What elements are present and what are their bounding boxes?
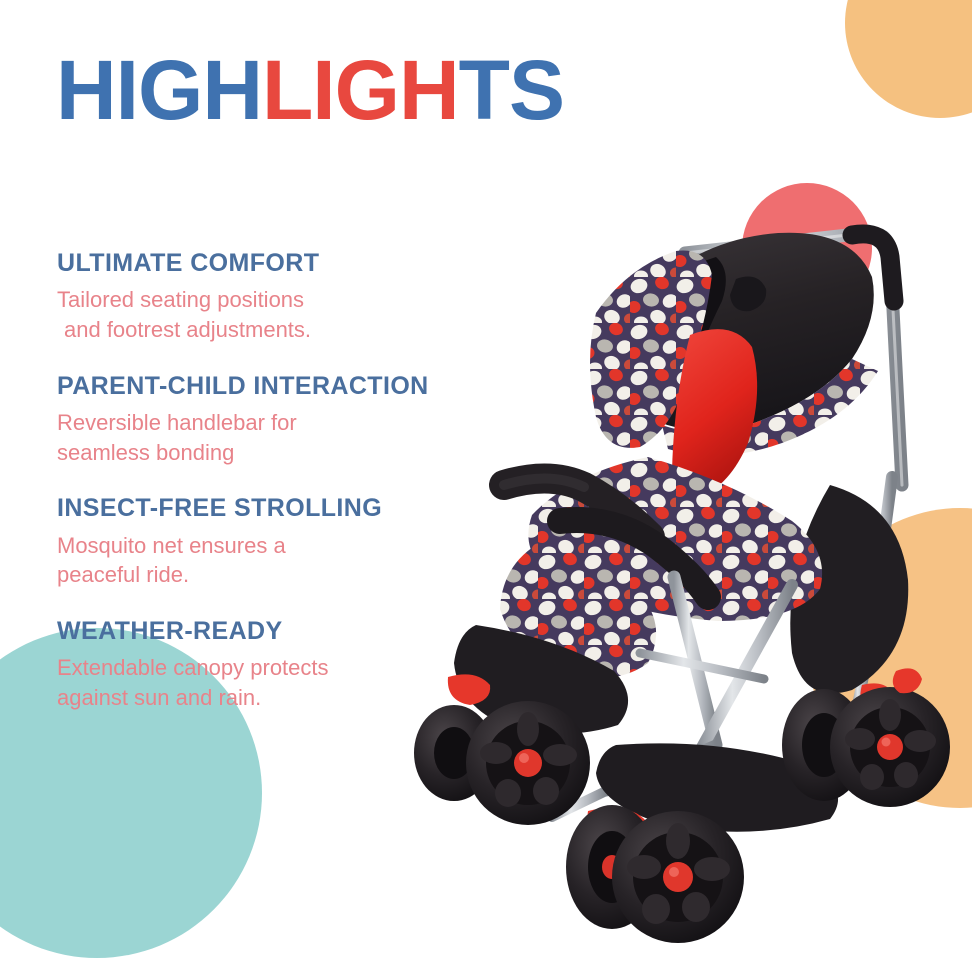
wheel-hub-cap <box>877 734 903 760</box>
feature-description: Tailored seating positions and footrest … <box>57 285 587 344</box>
title-part-ts: TS <box>459 43 564 137</box>
rear-release-tab <box>893 668 922 693</box>
feature-description: Reversible handlebar for seamless bondin… <box>57 408 587 467</box>
feature-desc-line2: and footrest adjustments. <box>57 315 587 345</box>
feature-desc-line2: against sun and rain. <box>57 683 587 713</box>
feature-item-insect-free-strolling: INSECT-FREE STROLLING Mosquito net ensur… <box>57 493 587 590</box>
feature-desc-line1: Reversible handlebar for <box>57 410 297 435</box>
feature-item-ultimate-comfort: ULTIMATE COMFORT Tailored seating positi… <box>57 248 587 345</box>
feature-title: ULTIMATE COMFORT <box>57 248 587 279</box>
feature-item-weather-ready: WEATHER-READY Extendable canopy protects… <box>57 616 587 713</box>
decorative-circle-orange-top <box>845 0 972 118</box>
feature-desc-line2: peaceful ride. <box>57 560 587 590</box>
rear-wheel-right <box>830 687 950 807</box>
feature-description: Extendable canopy protects against sun a… <box>57 653 587 712</box>
wheel-hub-cap <box>663 862 693 892</box>
front-wheel-foreground <box>612 811 744 943</box>
feature-desc-line2: seamless bonding <box>57 438 587 468</box>
wheel-hub-cap <box>514 749 542 777</box>
title-part-ligh: LIGH <box>262 43 459 137</box>
feature-description: Mosquito net ensures a peaceful ride. <box>57 531 587 590</box>
title-part-high: HIGH <box>56 43 262 137</box>
feature-list: ULTIMATE COMFORT Tailored seating positi… <box>57 248 587 739</box>
feature-title: INSECT-FREE STROLLING <box>57 493 587 524</box>
feature-item-parent-child-interaction: PARENT-CHILD INTERACTION Reversible hand… <box>57 371 587 468</box>
page-title: HIGHLIGHTS <box>56 48 564 132</box>
feature-desc-line1: Extendable canopy protects <box>57 655 329 680</box>
feature-desc-line1: Tailored seating positions <box>57 287 304 312</box>
feature-title: PARENT-CHILD INTERACTION <box>57 371 587 402</box>
feature-desc-line1: Mosquito net ensures a <box>57 533 286 558</box>
feature-title: WEATHER-READY <box>57 616 587 647</box>
highlights-graphic: HIGHLIGHTS ULTIMATE COMFORT Tailored sea… <box>0 0 972 972</box>
